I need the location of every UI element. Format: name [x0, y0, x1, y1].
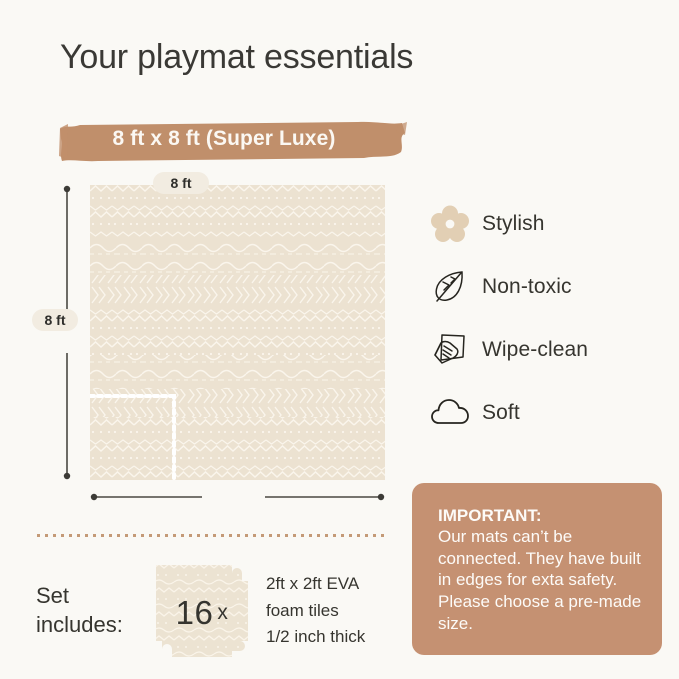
- tile-count-suffix: x: [217, 601, 228, 625]
- feature-label: Non-toxic: [482, 275, 572, 299]
- leaf-icon: [430, 267, 482, 307]
- height-dimension-line: [60, 185, 74, 480]
- width-dimension-line: [90, 486, 385, 508]
- set-includes-section: Set includes: 16 x 2ft x 2ft EVA foam ti…: [36, 556, 396, 666]
- feature-item-soft: Soft: [430, 381, 660, 444]
- page-title: Your playmat essentials: [60, 38, 413, 77]
- feature-item-stylish: Stylish: [430, 192, 660, 255]
- feature-item-wipe-clean: Wipe-clean: [430, 318, 660, 381]
- banner-label: 8 ft x 8 ft (Super Luxe): [58, 127, 408, 151]
- feature-label: Stylish: [482, 212, 545, 236]
- playmat-diagram: 8 ft: [38, 172, 418, 512]
- height-label: 8 ft: [32, 309, 78, 331]
- tile-count: 16 x: [154, 563, 250, 659]
- description-line-2: foam tiles: [266, 598, 365, 624]
- description-line-3: 1/2 inch thick: [266, 624, 365, 650]
- set-includes-description: 2ft x 2ft EVA foam tiles 1/2 inch thick: [266, 571, 365, 650]
- important-notice: IMPORTANT: Our mats can’t be connected. …: [412, 483, 662, 655]
- feature-item-non-toxic: Non-toxic: [430, 255, 660, 318]
- notice-title: IMPORTANT:: [438, 505, 642, 526]
- feature-label: Wipe-clean: [482, 338, 588, 362]
- highlighted-tile-outline: [90, 394, 176, 480]
- wipe-cloth-icon: [430, 330, 482, 370]
- notice-body: Our mats can’t be connected. They have b…: [438, 526, 642, 634]
- tile-count-number: 16: [176, 594, 214, 632]
- foam-tile-swatch: 16 x: [154, 563, 250, 659]
- feature-list: Stylish Non-toxic Wipe-clean: [430, 192, 660, 444]
- width-label: 8 ft: [153, 172, 209, 194]
- set-includes-label: Set includes:: [36, 582, 154, 639]
- flower-icon: [430, 204, 482, 244]
- description-line-1: 2ft x 2ft EVA: [266, 571, 365, 597]
- feature-label: Soft: [482, 401, 520, 425]
- cloud-icon: [430, 393, 482, 433]
- size-banner: 8 ft x 8 ft (Super Luxe): [58, 119, 408, 163]
- section-divider: [37, 534, 387, 537]
